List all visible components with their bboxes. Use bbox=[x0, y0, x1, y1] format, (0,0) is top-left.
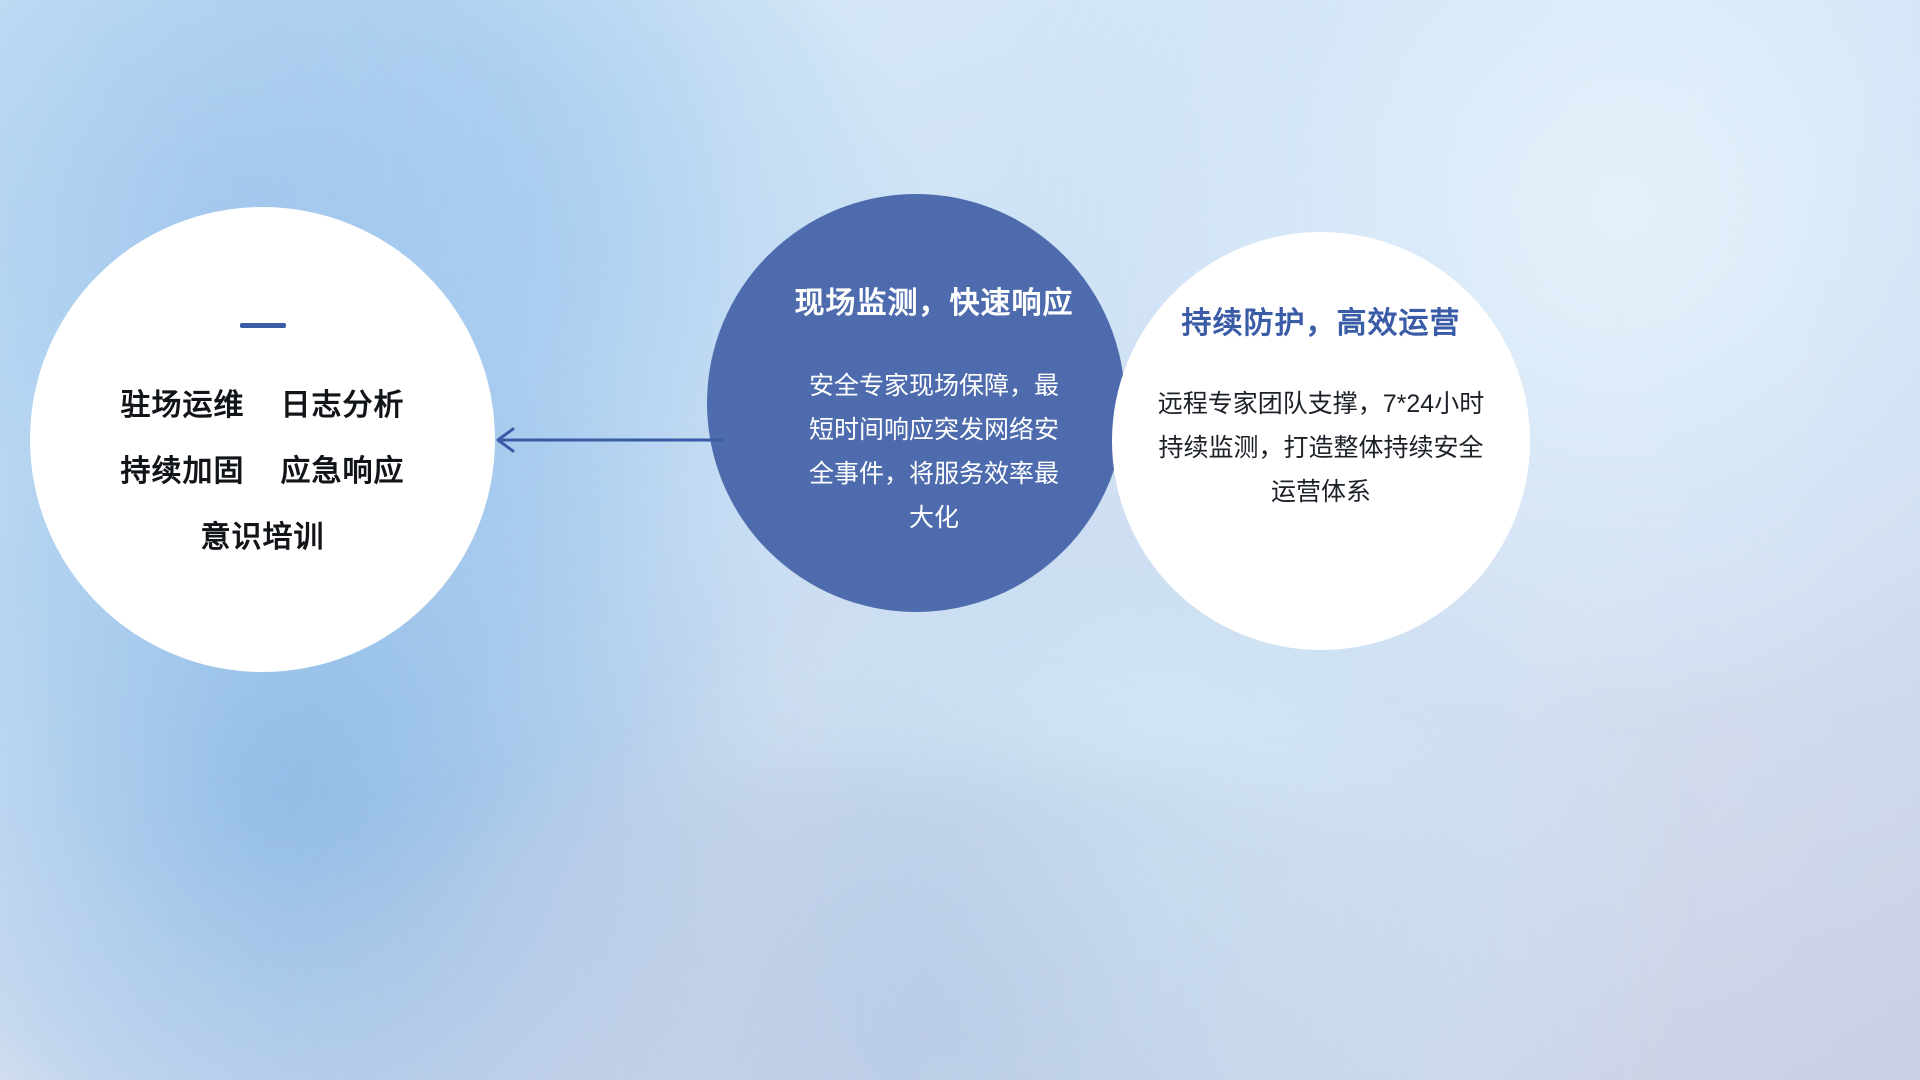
capability-tag-list: 驻场运维 日志分析 持续加固 应急响应 意识培训 bbox=[121, 380, 405, 556]
capability-tag: 意识培训 bbox=[201, 512, 325, 556]
capability-tag-row: 驻场运维 日志分析 bbox=[121, 380, 405, 424]
slide-canvas: 驻场运维 日志分析 持续加固 应急响应 意识培训 现场监测，快速响应 安全专家现… bbox=[0, 0, 1920, 1080]
flow-arrow-icon bbox=[485, 410, 725, 470]
onsite-monitoring-circle: 现场监测，快速响应 安全专家现场保障，最短时间响应突发网络安全事件，将服务效率最… bbox=[707, 194, 1125, 612]
continuous-protection-body: 远程专家团队支撑，7*24小时持续监测，打造整体持续安全运营体系 bbox=[1147, 382, 1495, 514]
onsite-monitoring-heading: 现场监测，快速响应 bbox=[795, 278, 1074, 322]
capability-tag: 持续加固 bbox=[121, 446, 245, 490]
continuous-protection-circle: 持续防护，高效运营 远程专家团队支撑，7*24小时持续监测，打造整体持续安全运营… bbox=[1112, 232, 1530, 650]
divider-dash bbox=[240, 323, 286, 328]
capabilities-circle: 驻场运维 日志分析 持续加固 应急响应 意识培训 bbox=[30, 207, 495, 672]
capability-tag: 驻场运维 bbox=[121, 380, 245, 424]
continuous-protection-heading: 持续防护，高效运营 bbox=[1182, 298, 1461, 342]
capability-tag-row: 意识培训 bbox=[201, 512, 325, 556]
capability-tag-row: 持续加固 应急响应 bbox=[121, 446, 405, 490]
capability-tag: 日志分析 bbox=[281, 380, 405, 424]
onsite-monitoring-body: 安全专家现场保障，最短时间响应突发网络安全事件，将服务效率最大化 bbox=[798, 364, 1070, 540]
capability-tag: 应急响应 bbox=[281, 446, 405, 490]
